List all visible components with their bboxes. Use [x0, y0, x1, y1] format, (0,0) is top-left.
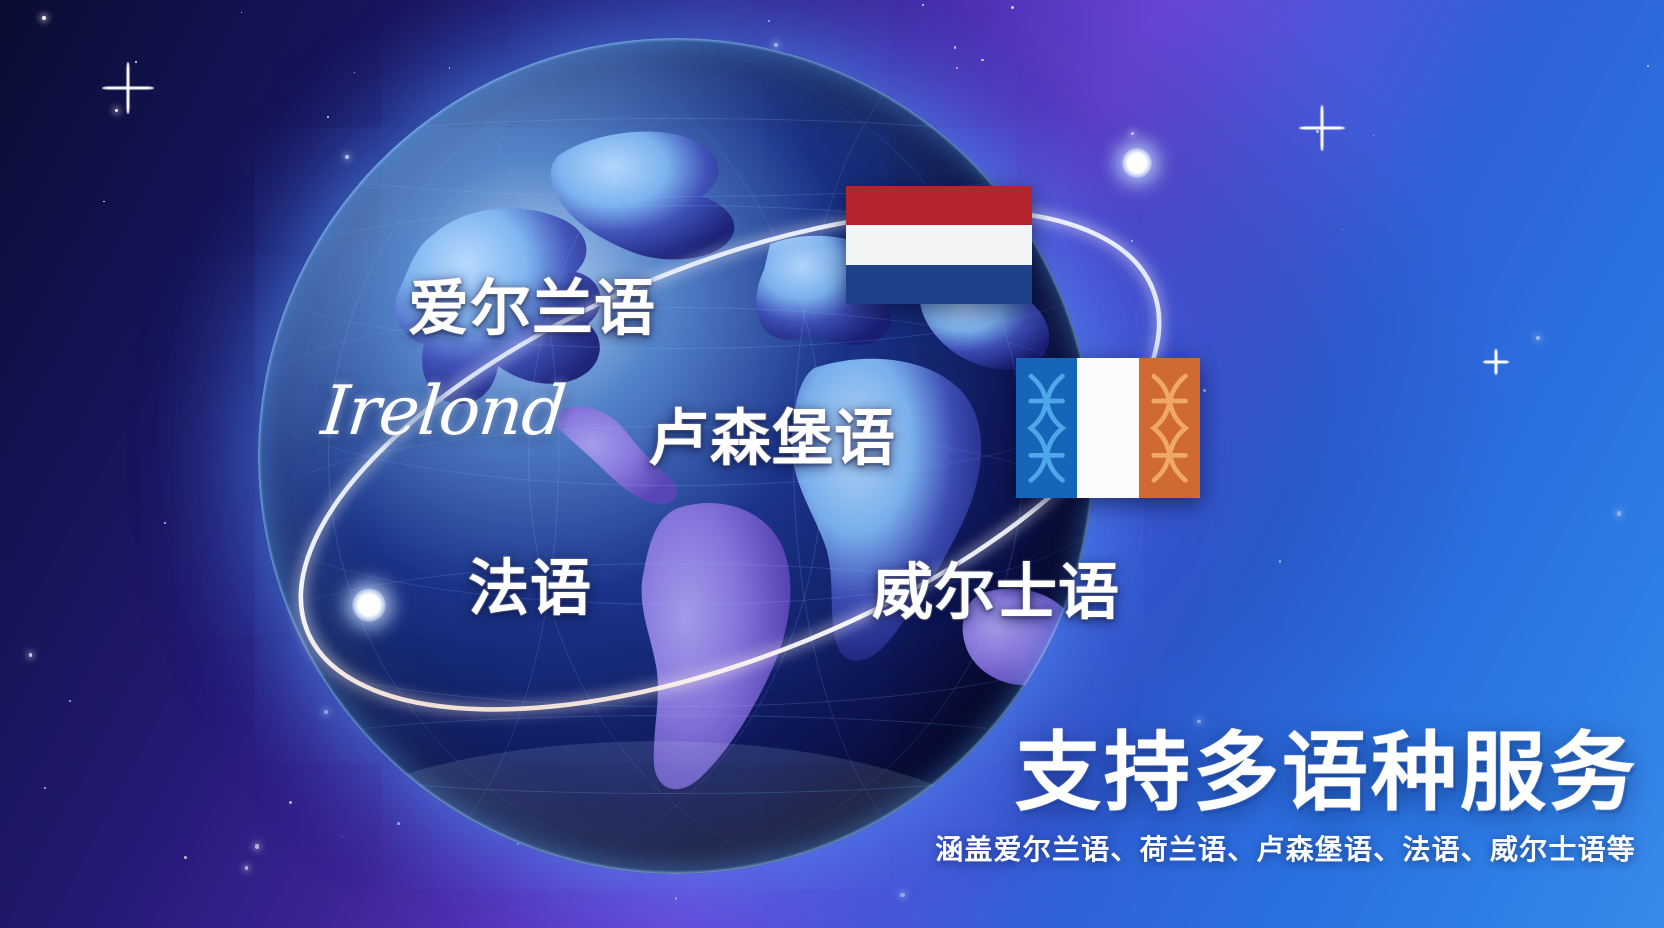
- celtic-knot-icon: [1147, 367, 1192, 492]
- star: [184, 856, 187, 859]
- page-title: 支持多语种服务: [935, 730, 1638, 818]
- flag-band-green: [1016, 358, 1077, 498]
- star: [135, 61, 137, 63]
- flag-band-red: [846, 186, 1032, 225]
- ireland-flag: [1016, 358, 1200, 498]
- language-label-irish: 爱尔兰语: [408, 258, 656, 347]
- star: [103, 201, 105, 203]
- star: [1617, 511, 1622, 516]
- orbit-node: [1122, 148, 1152, 178]
- sparkle-star-icon: [1299, 105, 1345, 151]
- sparkle-star-icon: [1483, 349, 1509, 375]
- star: [1011, 6, 1014, 9]
- netherlands-flag: [846, 186, 1032, 304]
- star: [42, 16, 46, 20]
- language-label-french: 法语: [468, 538, 592, 627]
- star: [1131, 132, 1134, 135]
- promo-banner: 爱尔兰语 Irelond 卢森堡语 法语 威尔士语 支持多语种服务 涵盖爱尔兰语…: [0, 0, 1664, 928]
- page-subtitle: 涵盖爱尔兰语、荷兰语、卢森堡语、法语、威尔士语等: [935, 828, 1636, 868]
- star: [29, 653, 32, 656]
- star: [44, 787, 46, 789]
- star: [241, 12, 242, 13]
- flag-band-blue: [846, 265, 1032, 304]
- celtic-knot-icon: [1024, 367, 1069, 492]
- orbit-node: [352, 588, 386, 622]
- star: [1316, 130, 1319, 133]
- star: [1373, 135, 1374, 136]
- star: [115, 109, 118, 112]
- star: [69, 700, 71, 702]
- flag-band-orange: [1139, 358, 1200, 498]
- star: [245, 866, 248, 869]
- flag-band-white: [846, 225, 1032, 264]
- star: [1279, 560, 1281, 562]
- flag-band-white: [1077, 358, 1138, 498]
- star: [1536, 336, 1540, 340]
- language-label-welsh: 威尔士语: [872, 542, 1120, 631]
- headline-block: 支持多语种服务 涵盖爱尔兰语、荷兰语、卢森堡语、法语、威尔士语等: [935, 730, 1638, 868]
- language-label-luxembourgish: 卢森堡语: [648, 388, 896, 477]
- sparkle-star-icon: [102, 62, 154, 114]
- ireland-script-wordmark: Irelond: [318, 372, 569, 451]
- star: [1647, 65, 1649, 67]
- star: [1342, 229, 1343, 230]
- star: [1197, 720, 1200, 723]
